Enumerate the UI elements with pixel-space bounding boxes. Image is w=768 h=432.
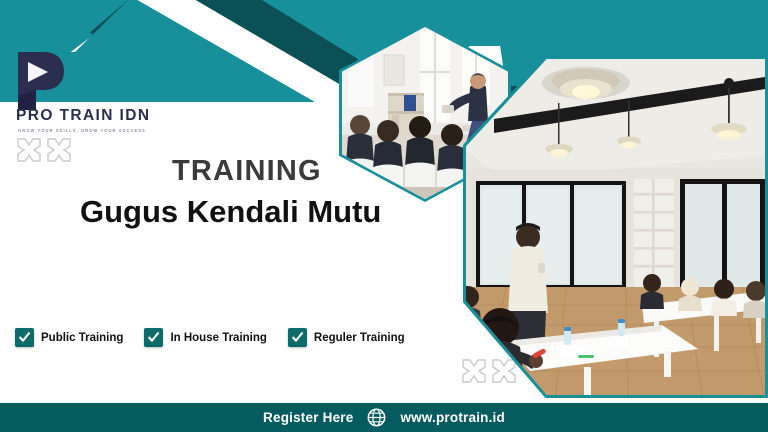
register-here-label: Register Here bbox=[263, 410, 353, 425]
checkbox-checked-icon[interactable] bbox=[288, 328, 307, 347]
brand-tagline: GROW YOUR SKILLS. GROW YOUR SUCCESS bbox=[18, 128, 214, 133]
option-public-training[interactable]: Public Training bbox=[15, 328, 123, 347]
brand-logo: PRO TRAIN IDN GROW YOUR SKILLS. GROW YOU… bbox=[14, 50, 214, 133]
headline: TRAINING Gugus Kendali Mutu bbox=[172, 157, 381, 229]
option-label: Reguler Training bbox=[314, 332, 405, 344]
option-in-house-training[interactable]: In House Training bbox=[144, 328, 266, 347]
double-x-mark-icon bbox=[14, 137, 76, 167]
option-label: Public Training bbox=[41, 332, 123, 344]
protrain-arrow-logo-icon bbox=[14, 50, 66, 112]
checkbox-checked-icon[interactable] bbox=[144, 328, 163, 347]
website-url[interactable]: www.protrain.id bbox=[400, 410, 505, 425]
option-reguler-training[interactable]: Reguler Training bbox=[288, 328, 405, 347]
training-workshop-large-photo bbox=[463, 56, 768, 398]
workshop-scene bbox=[466, 59, 765, 395]
double-x-mark-icon-bottom bbox=[459, 358, 521, 388]
footer-bar: Register Here www.protrain.id bbox=[0, 403, 768, 432]
poster-canvas: PRO TRAIN IDN GROW YOUR SKILLS. GROW YOU… bbox=[0, 0, 768, 432]
training-options: Public Training In House Training Regule… bbox=[15, 328, 405, 347]
checkbox-checked-icon[interactable] bbox=[15, 328, 34, 347]
option-label: In House Training bbox=[170, 332, 266, 344]
brand-wordmark: PRO TRAIN IDN bbox=[16, 108, 150, 124]
page-title: Gugus Kendali Mutu bbox=[80, 196, 381, 229]
globe-icon bbox=[367, 408, 386, 427]
